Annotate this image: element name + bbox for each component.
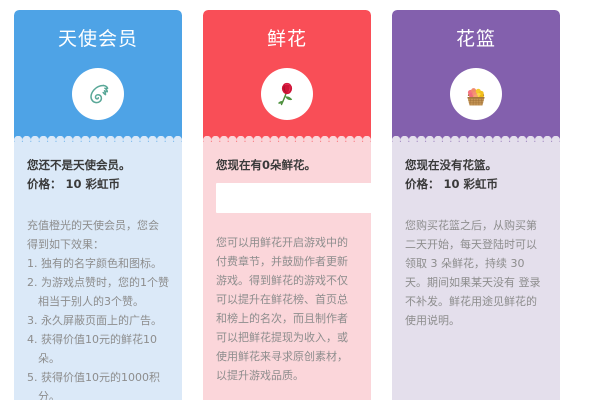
card-header: 鲜花 bbox=[203, 10, 371, 142]
list-item: 2. 为游戏点赞时，您的1个赞相当于别人的3个赞。 bbox=[27, 273, 169, 311]
benefit-list: 1. 独有的名字颜色和图标。 2. 为游戏点赞时，您的1个赞相当于别人的3个赞。… bbox=[27, 254, 169, 400]
flower-basket-icon bbox=[450, 68, 502, 120]
description-intro: 您可以用鲜花开启游戏中的付费章节，并鼓励作者更新游戏。得到鲜花的游戏不仅 可以提… bbox=[216, 233, 358, 385]
card-flowers[interactable]: 鲜花 bbox=[203, 10, 371, 400]
page-root: 天使会员 bbox=[0, 0, 600, 400]
angel-wing-icon bbox=[72, 68, 124, 120]
card-header: 天使会员 bbox=[14, 10, 182, 142]
status-text: 您还不是天使会员。 bbox=[27, 156, 169, 175]
card-body-content: 您现在没有花篮。 价格： 10 彩虹币 您购买花篮之后，从购买第二天开始，每天登… bbox=[392, 142, 560, 330]
list-item: 1. 独有的名字颜色和图标。 bbox=[27, 254, 169, 273]
list-item: 3. 永久屏蔽页面上的广告。 bbox=[27, 311, 169, 330]
card-body-content: 您现在有0朵鲜花。 1彩虹币 您可以用鲜花开启游戏中的付费章节，并鼓励作者更新游… bbox=[203, 142, 371, 385]
rose-icon bbox=[261, 68, 313, 120]
card-title: 天使会员 bbox=[14, 28, 182, 50]
price-text: 价格： 10 彩虹币 bbox=[405, 175, 547, 194]
list-item: 4. 获得价值10元的鲜花10朵。 bbox=[27, 330, 169, 368]
list-item: 5. 获得价值10元的1000积分。 bbox=[27, 368, 169, 400]
card-header: 花篮 bbox=[392, 10, 560, 142]
purchase-row: 1彩虹币 bbox=[216, 183, 359, 213]
description-intro: 您购买花篮之后，从购买第二天开始，每天登陆时可以领取 3 朵鲜花，持续 30 天… bbox=[405, 216, 547, 330]
card-title: 鲜花 bbox=[203, 28, 371, 50]
status-text: 您现在有0朵鲜花。 bbox=[216, 156, 358, 175]
card-body-content: 您还不是天使会员。 价格： 10 彩虹币 充值橙光的天使会员，您会得到如下效果：… bbox=[14, 142, 182, 400]
flower-quantity-input[interactable] bbox=[216, 183, 371, 213]
status-text: 您现在没有花篮。 bbox=[405, 156, 547, 175]
description-intro: 充值橙光的天使会员，您会得到如下效果： bbox=[27, 216, 169, 254]
price-text: 价格： 10 彩虹币 bbox=[27, 175, 169, 194]
card-title: 花篮 bbox=[392, 28, 560, 50]
product-card-list: 天使会员 bbox=[0, 0, 600, 400]
card-flower-basket[interactable]: 花篮 bbox=[392, 10, 560, 400]
card-angel-member[interactable]: 天使会员 bbox=[14, 10, 182, 400]
